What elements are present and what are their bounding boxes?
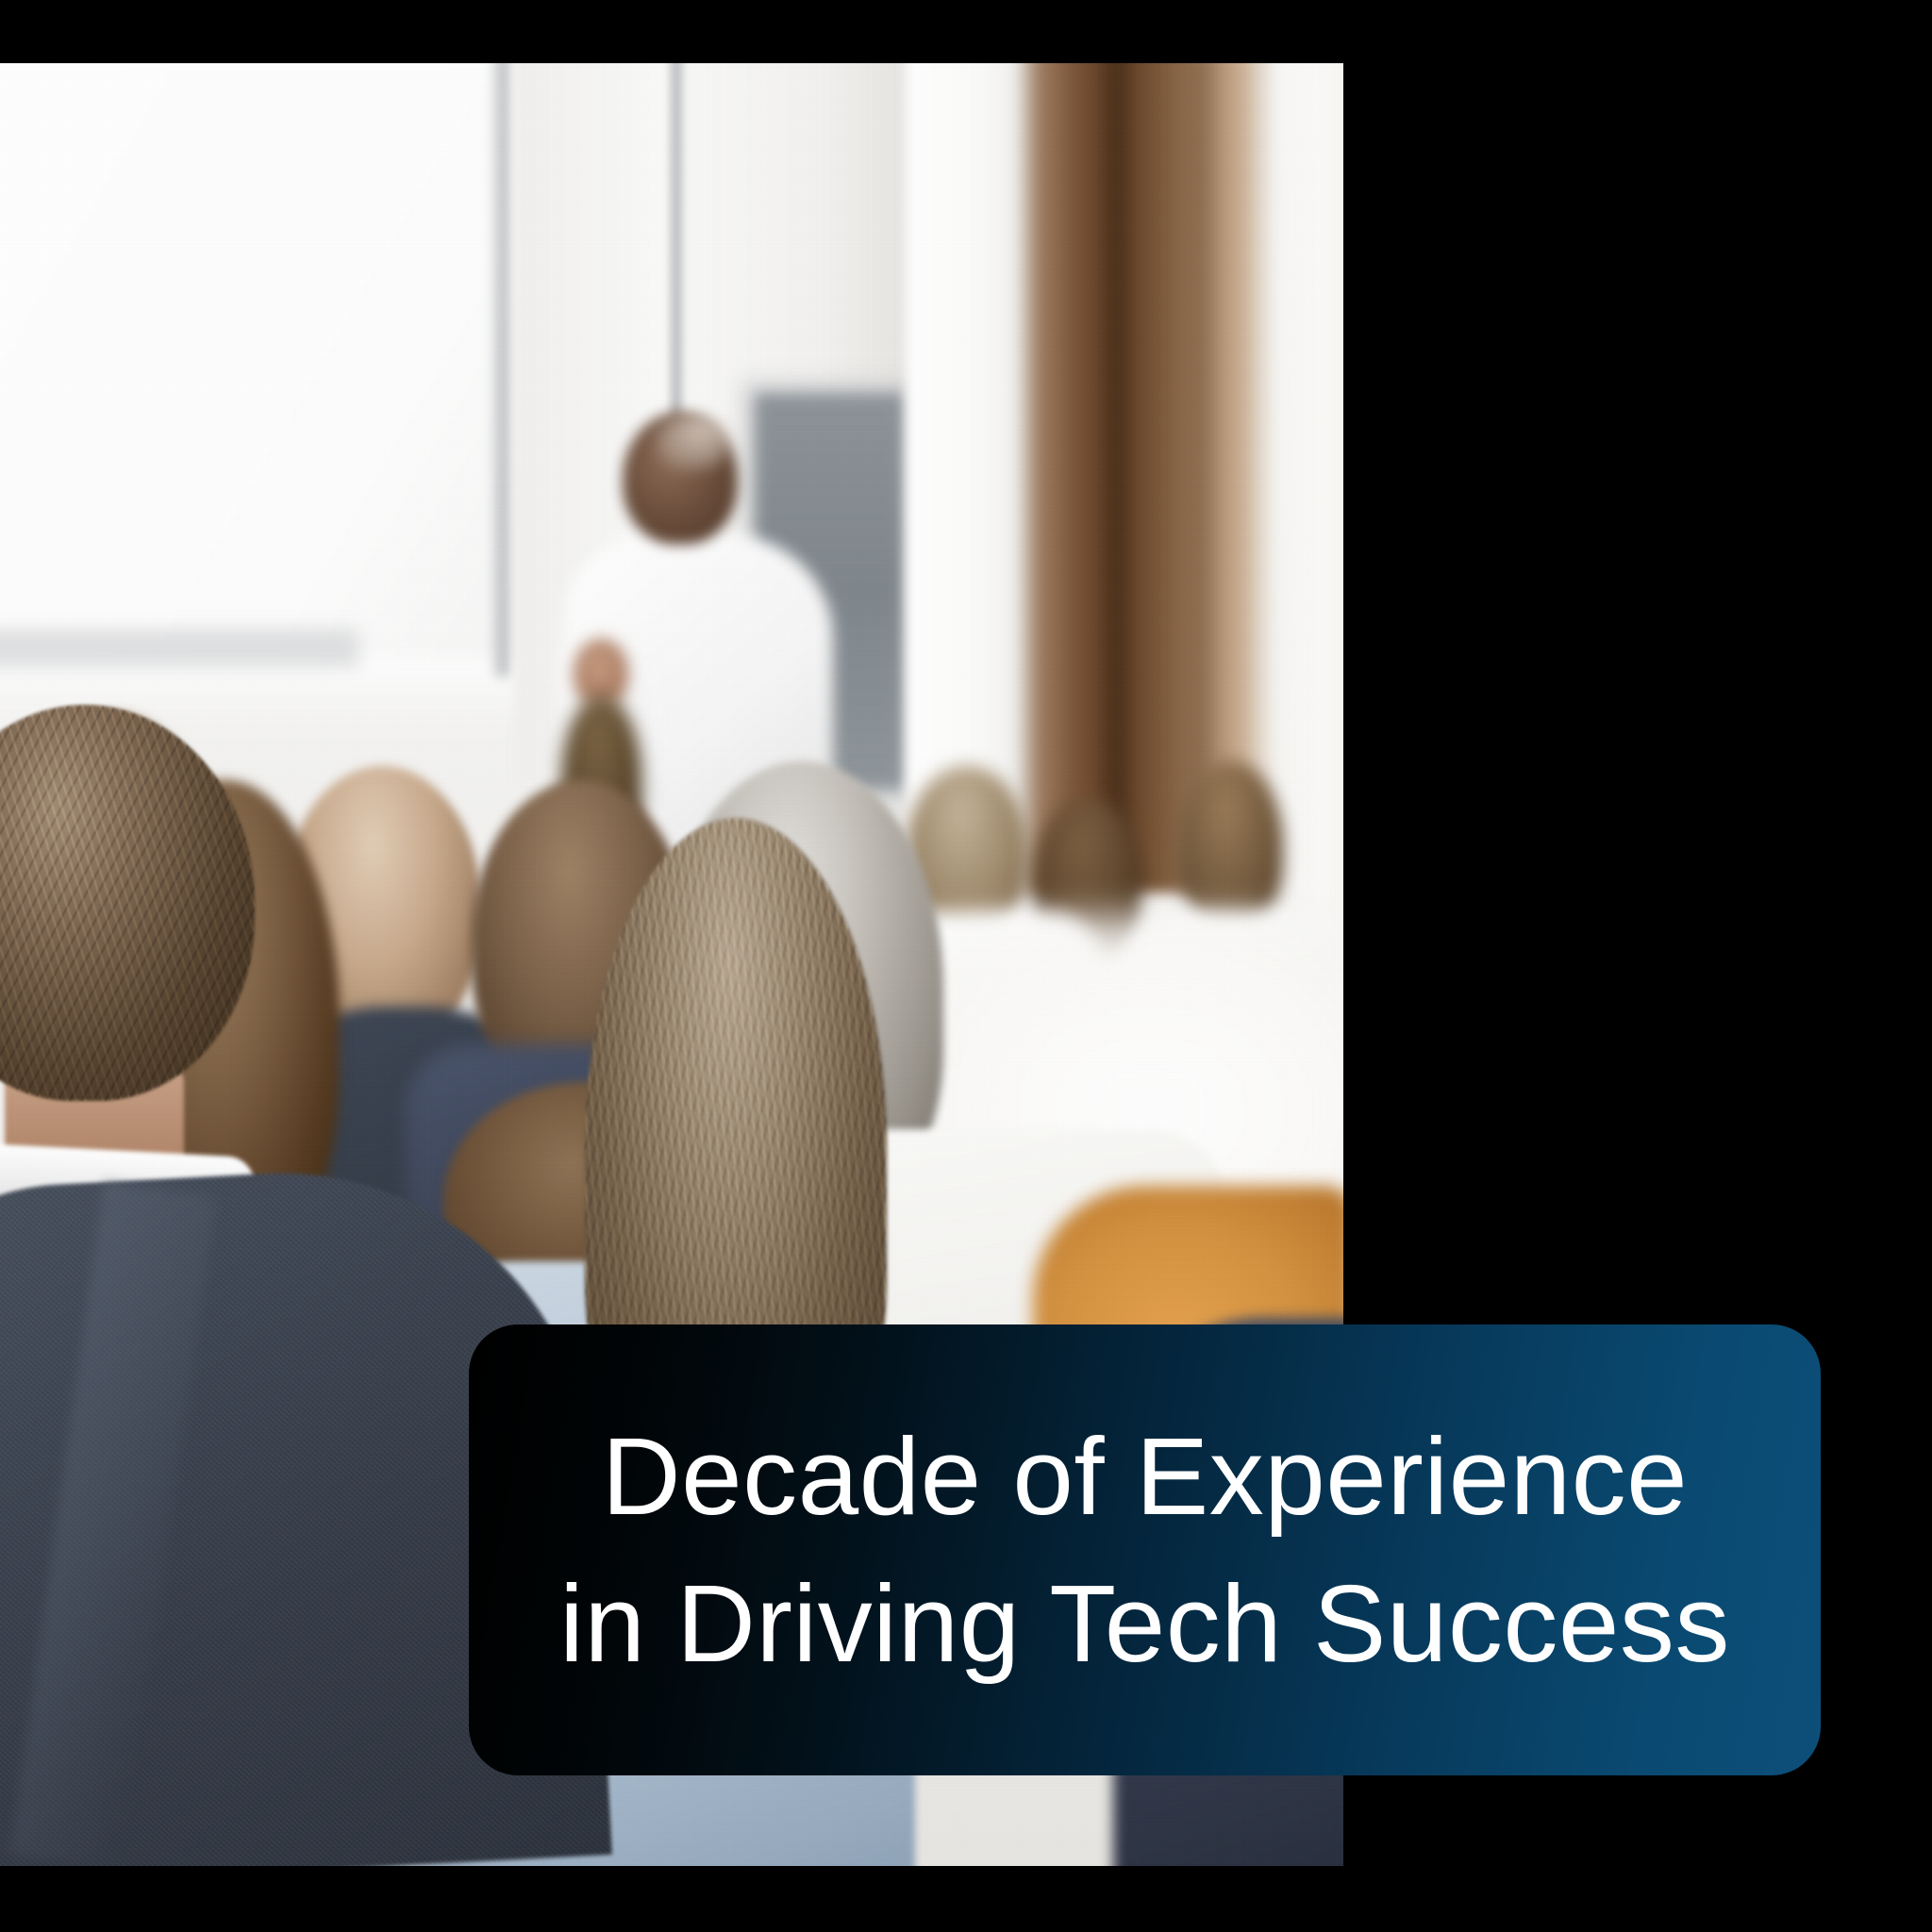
projection-screen bbox=[0, 63, 528, 658]
speaker-hair-highlight bbox=[656, 414, 731, 471]
headline-line-1: Decade of Experience bbox=[602, 1403, 1688, 1550]
headline-line-2: in Driving Tech Success bbox=[559, 1550, 1730, 1697]
caption-text-block: Decade of Experience in Driving Tech Suc… bbox=[469, 1324, 1821, 1775]
curtain-fold bbox=[1104, 63, 1128, 893]
image-canvas: Decade of Experience in Driving Tech Suc… bbox=[0, 0, 1932, 1932]
projection-screen-bottom-bar bbox=[0, 629, 358, 667]
audience-head-far bbox=[1179, 761, 1283, 931]
projection-screen-edge-icon bbox=[491, 63, 515, 676]
curtain-fold bbox=[1189, 63, 1207, 893]
caption-card: Decade of Experience in Driving Tech Suc… bbox=[469, 1324, 1821, 1775]
